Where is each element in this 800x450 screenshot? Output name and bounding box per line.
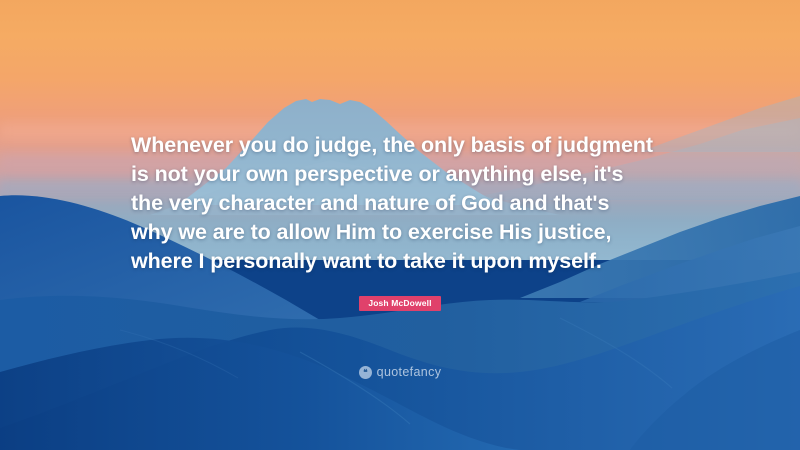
quote-poster: Whenever you do judge, the only basis of… xyxy=(0,0,800,450)
quote-line: Whenever you do judge, the only basis of… xyxy=(131,131,679,160)
quote-text: Whenever you do judge, the only basis of… xyxy=(131,131,679,276)
quote-line: why we are to allow Him to exercise His … xyxy=(131,218,679,247)
watermark-brand: quotefancy xyxy=(377,365,442,379)
author-badge: Josh McDowell xyxy=(359,296,440,311)
quote-line: where I personally want to take it upon … xyxy=(131,247,679,276)
quote-line: is not your own perspective or anything … xyxy=(131,160,679,189)
quote-line: the very character and nature of God and… xyxy=(131,189,679,218)
quote-mark-icon: ❝ xyxy=(359,366,372,379)
watermark: ❝ quotefancy xyxy=(0,365,800,379)
author-attribution: Josh McDowell xyxy=(0,293,800,311)
